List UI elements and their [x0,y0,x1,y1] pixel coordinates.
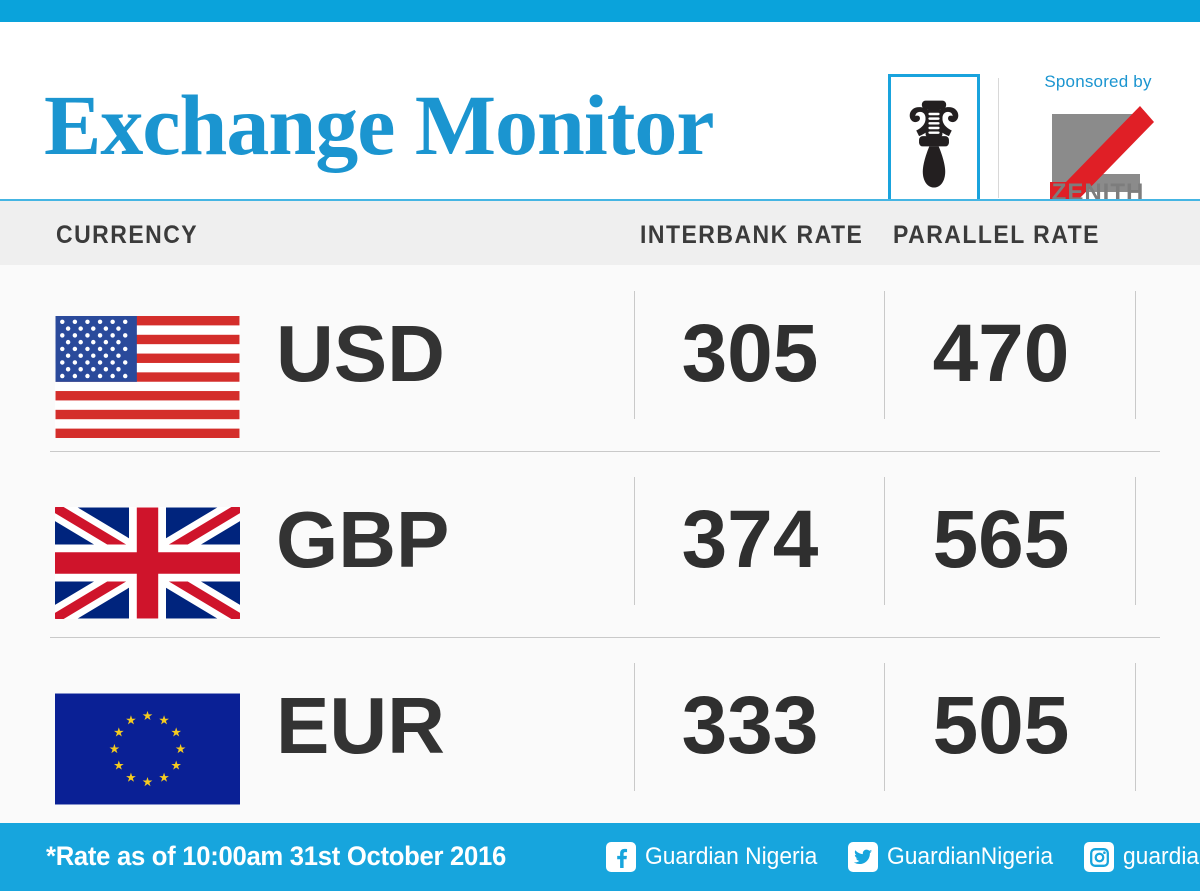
column-header-parallel: PARALLEL RATE [893,221,1100,250]
instagram-handle: guardiannigeria [1123,843,1200,871]
parallel-rate-value: 470 [886,306,1116,402]
currency-code: EUR [276,678,445,774]
facebook-handle: Guardian Nigeria [645,843,817,871]
masthead: Exchange Monitor [0,22,1200,200]
column-header-interbank: INTERBANK RATE [640,221,863,250]
column-divider [884,291,885,419]
column-divider [884,663,885,791]
us-flag-icon [55,316,240,438]
column-header-currency: CURRENCY [56,221,198,250]
top-accent-bar [0,0,1200,22]
rate-timestamp-note: *Rate as of 10:00am 31st October 2016 [46,841,506,872]
eu-flag-icon [55,693,240,805]
column-divider [1135,477,1136,605]
twitter-handle: GuardianNigeria [887,843,1053,871]
interbank-rate-value: 374 [635,492,865,588]
currency-code: GBP [276,492,449,588]
parallel-rate-value: 505 [886,678,1116,774]
page-title: Exchange Monitor [44,82,714,168]
guardian-nigeria-emblem-icon [888,74,980,202]
interbank-rate-value: 305 [635,306,865,402]
column-header-row: CURRENCY INTERBANK RATE PARALLEL RATE [0,201,1200,265]
rates-table: USD 305 470 GBP 374 565 [0,265,1200,823]
facebook-icon [606,842,636,872]
column-divider [1135,663,1136,791]
social-links: Guardian Nigeria GuardianNigeria [606,840,1200,874]
column-divider [1135,291,1136,419]
table-row: EUR 333 505 [0,637,1200,823]
interbank-rate-value: 333 [635,678,865,774]
parallel-rate-value: 565 [886,492,1116,588]
twitter-icon [848,842,878,872]
table-row: USD 305 470 [0,265,1200,451]
sponsor-block: Sponsored by ZENITH [1018,72,1178,204]
table-row: GBP 374 565 [0,451,1200,637]
gb-flag-icon [55,507,240,619]
facebook-link[interactable]: Guardian Nigeria [606,842,826,872]
sponsored-by-label: Sponsored by [1018,72,1178,92]
footer-bar: *Rate as of 10:00am 31st October 2016 Gu… [0,823,1200,891]
masthead-divider [998,78,999,198]
instagram-link[interactable]: guardiannigeria [1084,842,1200,872]
twitter-link[interactable]: GuardianNigeria [848,842,1062,872]
exchange-monitor-card: Exchange Monitor [0,0,1200,891]
instagram-icon [1084,842,1114,872]
column-divider [884,477,885,605]
currency-code: USD [276,306,445,402]
zenith-logo-icon: ZENITH [1036,96,1160,204]
